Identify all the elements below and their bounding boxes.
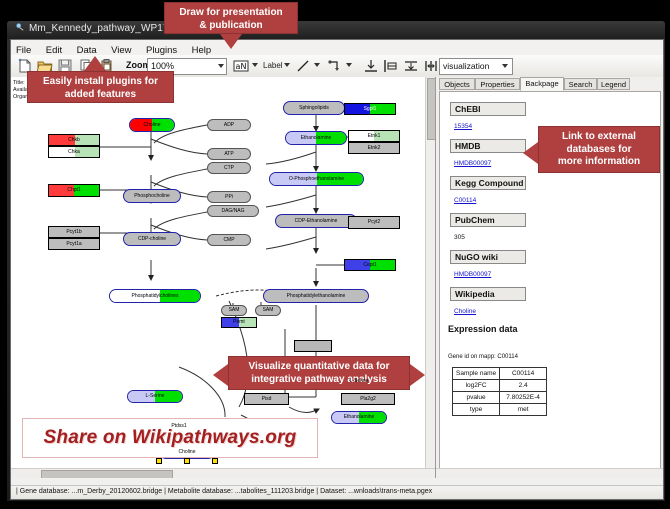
node-label: Sgpl1: [364, 107, 377, 112]
callout-draw-for-publication: Draw for presentation & publication: [164, 2, 298, 34]
zoom-value: 100%: [151, 61, 174, 71]
cell-label: pvalue: [453, 392, 500, 404]
chevron-down-icon: [346, 63, 352, 67]
node-label: Choline: [144, 123, 161, 128]
node-sgpl1[interactable]: Sgpl1: [344, 103, 396, 115]
table-row: log2FC 2.4: [453, 380, 547, 392]
node-phosphatidylcholines[interactable]: Phosphatidylcholines: [109, 289, 201, 303]
node-ctp[interactable]: CTP: [207, 162, 251, 174]
node-dag-nag[interactable]: DAG/NAG: [207, 205, 259, 217]
datanode-icon[interactable]: aN: [233, 58, 249, 74]
selection-handle[interactable]: [212, 458, 218, 464]
link-hmdb[interactable]: HMDB00097: [454, 160, 491, 167]
link-chebi[interactable]: 15354: [454, 123, 472, 130]
node-cdp-ethanolamine[interactable]: CDP-Ethanolamine: [275, 214, 357, 228]
cell-label: type: [453, 404, 500, 416]
node-chkb[interactable]: Chkb: [48, 134, 100, 146]
side-panel-tabs: Objects Properties Backpage Search Legen…: [439, 77, 659, 91]
table-row: Sample name C00114: [453, 368, 547, 380]
node-label: Chka: [68, 150, 80, 155]
node-label: ATP: [224, 152, 233, 157]
node-label: Pisd: [262, 397, 272, 402]
node-pcyt2[interactable]: Pcyt2: [348, 216, 400, 229]
node-label: Pcyt1a: [66, 242, 81, 247]
callout-arrow-left-links: [523, 142, 538, 164]
expression-table: Sample name C00114 log2FC 2.4 pvalue 7.8…: [452, 367, 547, 416]
node-ethanolamine-bottom[interactable]: Ethanolamine: [331, 411, 387, 424]
pathvisio-app-icon: [15, 22, 26, 33]
node-label: CDP-choline: [138, 237, 166, 242]
tab-backpage[interactable]: Backpage: [520, 77, 564, 91]
node-label: Phosphatidylethanolamine: [287, 294, 346, 299]
node-etnk1[interactable]: Etnk1: [348, 130, 400, 142]
status-text: | Gene database: ...m_Derby_20120602.bri…: [16, 488, 432, 495]
interaction-dropdown[interactable]: [345, 58, 353, 73]
callout-share-wikipathways: Share on Wikipathways.org: [22, 418, 318, 458]
node-label: Pemt: [233, 320, 245, 325]
node-pla2g2[interactable]: Pla2g2: [341, 393, 395, 405]
menu-bar: File Edit Data View Plugins Help: [11, 40, 663, 56]
tab-properties[interactable]: Properties: [475, 78, 520, 90]
node-label: ADP: [224, 123, 234, 128]
value-pubchem: 305: [454, 234, 465, 241]
tab-objects[interactable]: Objects: [439, 78, 475, 90]
node-pemt[interactable]: Pemt: [221, 317, 257, 328]
node-cmp[interactable]: CMP: [207, 234, 251, 246]
distribute-columns-icon[interactable]: [423, 58, 439, 74]
node-label: Ethanolamine: [344, 415, 375, 420]
node-sam-left[interactable]: SAM: [221, 305, 247, 316]
node-choline[interactable]: Choline: [129, 118, 175, 132]
link-kegg[interactable]: C00114: [454, 197, 476, 204]
line-tool-icon[interactable]: [295, 58, 311, 74]
label-tool-label[interactable]: Label: [263, 61, 283, 70]
node-pcyt1b[interactable]: Pcyt1b: [48, 226, 100, 238]
node-label: Ptdss1: [171, 424, 186, 429]
node-label: Cept1: [363, 263, 376, 268]
stack-rows-icon[interactable]: [403, 58, 419, 74]
node-label: Ethanolamine: [301, 136, 332, 141]
node-label: DAG/NAG: [221, 209, 244, 214]
node-etnk2[interactable]: Etnk2: [348, 142, 400, 154]
node-label: SAM: [229, 308, 240, 313]
svg-text:aN: aN: [236, 62, 247, 71]
node-placeholder[interactable]: [294, 340, 332, 352]
selection-handle[interactable]: [156, 458, 162, 464]
line-dropdown[interactable]: [313, 58, 321, 73]
tab-legend[interactable]: Legend: [597, 78, 630, 90]
cell-value: 7.80252E-4: [500, 392, 547, 404]
node-label: CMP: [223, 238, 234, 243]
canvas-vertical-scrollbar[interactable]: [425, 77, 435, 478]
node-label: Etnk2: [368, 146, 381, 151]
node-cept1[interactable]: Cept1: [344, 259, 396, 271]
node-label: Pcyt2: [368, 220, 381, 225]
node-label: L-Serine: [146, 394, 165, 399]
node-ethanolamine-top[interactable]: Ethanolamine: [285, 131, 347, 145]
link-wikipedia[interactable]: Choline: [454, 308, 476, 315]
expression-data-title: Expression data: [448, 324, 518, 334]
panel-horizontal-scrollbar[interactable]: [436, 468, 663, 478]
section-header-chebi: ChEBI: [450, 102, 526, 116]
node-l-serine-left[interactable]: L-Serine: [127, 390, 183, 403]
callout-arrow-left-visualize: [213, 364, 228, 386]
callout-install-plugins: Easily install plugins for added feature…: [27, 71, 174, 103]
node-label: Pcyt1b: [66, 230, 81, 235]
status-bar: | Gene database: ...m_Derby_20120602.bri…: [11, 485, 663, 499]
node-label: Sphingolipids: [299, 106, 329, 111]
node-ppi[interactable]: PPi: [207, 191, 251, 203]
label-dropdown[interactable]: [283, 58, 291, 73]
node-label: Pla2g2: [360, 397, 376, 402]
node-sphingolipids[interactable]: Sphingolipids: [283, 101, 345, 115]
node-chka[interactable]: Chka: [48, 146, 100, 158]
cell-label: Sample name: [453, 368, 500, 380]
selection-handle[interactable]: [184, 458, 190, 464]
chevron-down-icon: [218, 64, 224, 68]
callout-visualize-data: Visualize quantitative data for integrat…: [228, 356, 410, 390]
tab-search[interactable]: Search: [564, 78, 597, 90]
scroll-thumb[interactable]: [427, 78, 436, 140]
chevron-down-icon: [284, 63, 290, 67]
chevron-down-icon: [314, 63, 320, 67]
callout-arrow-down-draw: [220, 34, 242, 49]
section-header-hmdb: HMDB: [450, 139, 526, 153]
datanode-dropdown[interactable]: [251, 58, 259, 73]
cell-value: C00114: [500, 368, 547, 380]
node-label: Chkb: [68, 138, 80, 143]
interaction-tool-icon[interactable]: [327, 58, 343, 74]
align-top-icon[interactable]: [363, 58, 379, 74]
node-atp[interactable]: ATP: [207, 148, 251, 160]
section-header-nugo: NuGO wiki: [450, 250, 526, 264]
table-row: type met: [453, 404, 547, 416]
gene-id-line: Gene id on mapp: C00114: [448, 354, 518, 360]
node-label: CTP: [224, 166, 234, 171]
node-sam-right[interactable]: SAM: [255, 305, 281, 316]
canvas-horizontal-scrollbar[interactable]: [11, 468, 435, 478]
node-label: PPi: [225, 195, 233, 200]
chevron-down-icon: [252, 63, 258, 67]
table-row: pvalue 7.80252E-4: [453, 392, 547, 404]
callout-arrow-up-plugins: [84, 56, 106, 71]
node-label: SAM: [263, 308, 274, 313]
node-phosphatidylethanolamine[interactable]: Phosphatidylethanolamine: [263, 289, 369, 303]
node-adp[interactable]: ADP: [207, 119, 251, 131]
node-label: L-Serine: [350, 379, 369, 384]
section-header-kegg: Kegg Compound: [450, 176, 526, 190]
node-o-phosphoethanolamine[interactable]: O-Phosphoethanolamine: [269, 172, 364, 186]
node-pcyt1a[interactable]: Pcyt1a: [48, 238, 100, 250]
visualization-combobox[interactable]: visualization: [439, 58, 513, 75]
link-nugo[interactable]: HMDB00097: [454, 271, 491, 278]
scroll-thumb[interactable]: [41, 470, 173, 478]
cell-value: 2.4: [500, 380, 547, 392]
title-bar: Mm_Kennedy_pathway_WP1771_45176.gpml: [7, 21, 665, 39]
node-label: Phosphocholine: [134, 194, 170, 199]
chevron-down-icon: [502, 64, 508, 68]
node-label: CDP-Ethanolamine: [295, 219, 338, 224]
node-chpt1[interactable]: Chpt1: [48, 184, 100, 197]
cell-label: log2FC: [453, 380, 500, 392]
section-header-pubchem: PubChem: [450, 213, 526, 227]
node-label: Chpt1: [67, 188, 80, 193]
node-label: O-Phosphoethanolamine: [289, 177, 344, 182]
visualization-value: visualization: [443, 61, 489, 71]
callout-arrow-right-visualize: [410, 364, 425, 386]
node-label: Phosphatidylcholines: [132, 294, 179, 299]
callout-external-links: Link to external databases for more info…: [538, 126, 660, 173]
screenshot-root: Mm_Kennedy_pathway_WP1771_45176.gpml Fil…: [0, 0, 670, 509]
node-pisd[interactable]: Pisd: [244, 393, 289, 405]
share-text: Share on Wikipathways.org: [44, 427, 297, 449]
node-cdp-choline[interactable]: CDP-choline: [123, 232, 181, 246]
align-left-icon[interactable]: [383, 58, 399, 74]
node-label: Etnk1: [368, 134, 381, 139]
cell-value: met: [500, 404, 547, 416]
node-phosphocholine[interactable]: Phosphocholine: [123, 189, 181, 203]
section-header-wikipedia: Wikipedia: [450, 287, 526, 301]
node-label: Choline: [179, 450, 196, 455]
